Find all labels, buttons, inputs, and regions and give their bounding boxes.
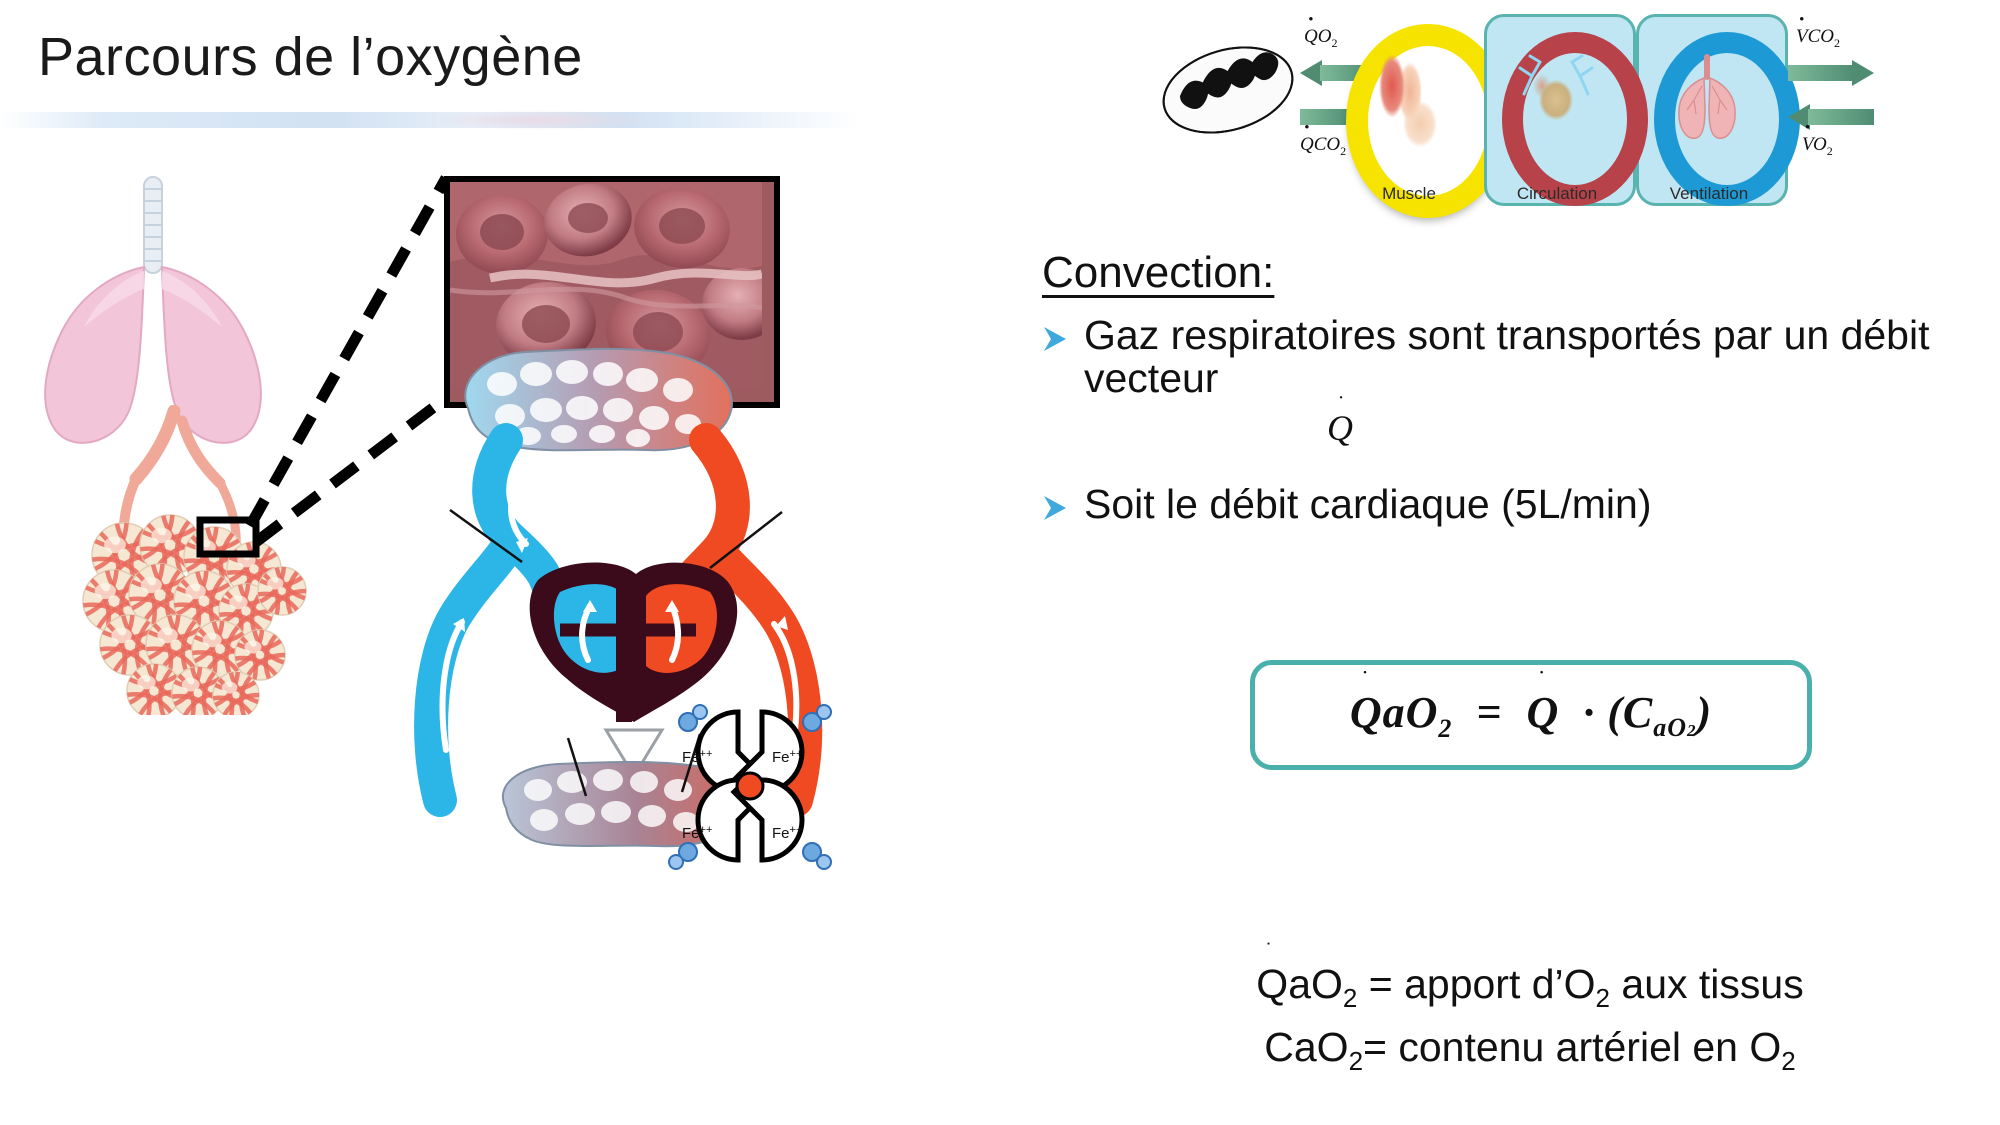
label-qo2: QQOO2 — [1304, 26, 1337, 51]
heart-icon — [1522, 56, 1590, 144]
chevron-right-icon — [1040, 493, 1070, 523]
label-vco2: VCO2 — [1796, 26, 1840, 51]
bullet-item-2: Soit le débit cardiaque (5L/min) — [1040, 483, 1990, 526]
label-qco2: QCO2 — [1300, 134, 1346, 159]
title-underline-band — [0, 112, 860, 128]
label-vo2: VO2 — [1802, 134, 1833, 159]
caption-ventilation: Ventilation — [1634, 184, 1784, 204]
bullet-item-1: Gaz respiratoires sont transportés par u… — [1040, 314, 1990, 401]
arrow-vco2-right — [1788, 60, 1874, 86]
legend-line-1: Q˙aO2 = apport d’O2 aux tissus — [1100, 955, 1960, 1018]
right-content-block: Convection: Gaz respiratoires sont trans… — [1040, 248, 1990, 532]
muscle-icon — [1366, 46, 1456, 152]
page-title: Parcours de l’oxygène — [38, 26, 583, 88]
chevron-right-icon — [1040, 324, 1070, 354]
arrow-vo2-left — [1788, 104, 1874, 130]
caption-circulation: Circulation — [1482, 184, 1632, 204]
equation-text: Q˙aO2 = Q˙ · (CaO2) — [1350, 687, 1712, 744]
lungs-icon — [1674, 52, 1740, 144]
caption-muscle: Muscle — [1334, 184, 1484, 204]
q-dot-symbol: Q˙ — [1100, 407, 1580, 449]
section-heading: Convection: — [1042, 248, 1990, 298]
bullet-text-1: Gaz respiratoires sont transportés par u… — [1084, 314, 1990, 401]
legend-block: Q˙aO2 = apport d’O2 aux tissus CaO2= con… — [1100, 955, 1960, 1081]
mitochondrion-icon — [1158, 32, 1298, 142]
hemoglobin-illustration: Fe++ Fe++ Fe++ Fe++ — [660, 700, 840, 870]
legend-line-2: CaO2= contenu artériel en O2 — [1100, 1018, 1960, 1081]
equation-box: Q˙aO2 = Q˙ · (CaO2) — [1250, 660, 1812, 770]
alveoli-cluster-illustration — [78, 405, 318, 715]
bullet-text-2: Soit le débit cardiaque (5L/min) — [1084, 483, 1651, 526]
oxygen-cascade-diagram: QQOO2 QCO2 VCO2 VO2 Muscle — [1150, 4, 2000, 219]
